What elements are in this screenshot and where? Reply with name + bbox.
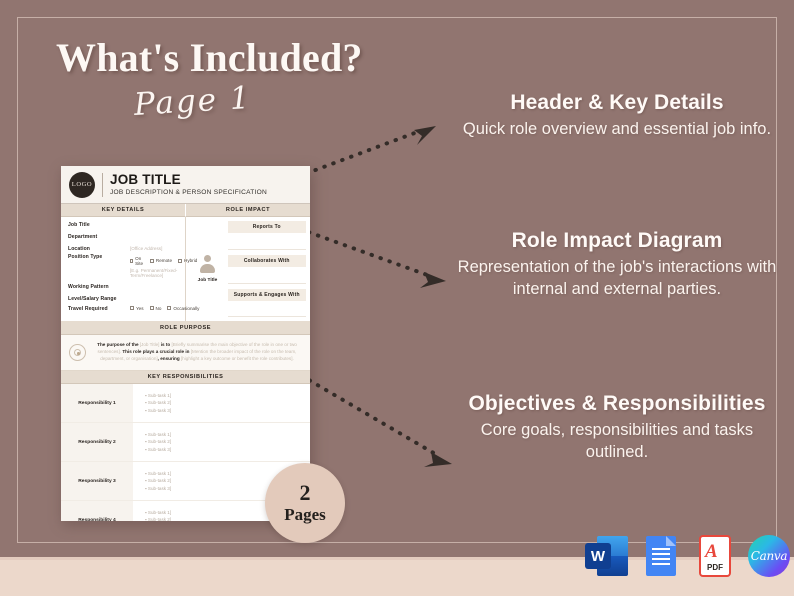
docs-line — [652, 558, 670, 560]
key-details-and-role-impact-row: Job Title Department Location [Office Ad… — [61, 217, 310, 321]
task-item: Sub-task 3] — [145, 446, 310, 454]
field-label: Location — [68, 246, 130, 252]
feature-title: Role Impact Diagram — [452, 229, 782, 253]
word-icon[interactable]: W — [585, 534, 629, 578]
chip-blank-field[interactable] — [228, 306, 307, 317]
key-details-row[interactable]: Location [Office Address] — [61, 246, 185, 252]
task-item: Sub-task 2] — [145, 438, 310, 446]
responsibility-row[interactable]: Responsibility 1 Sub-task 1] Sub-task 2]… — [61, 384, 310, 423]
rp-placeholder-4: [highlight a key outcome or benefit the … — [181, 356, 294, 361]
feature-title: Header & Key Details — [452, 91, 782, 115]
chip-blank-field[interactable] — [228, 273, 307, 284]
field-label: Working Pattern — [68, 284, 130, 290]
rp-bold-4: , ensuring — [158, 356, 181, 361]
word-letter: W — [585, 543, 611, 569]
task-item: Sub-task 3] — [145, 407, 310, 415]
section-title-role-purpose: ROLE PURPOSE — [61, 321, 310, 334]
role-impact-chips: Reports To Collaborates With Supports & … — [228, 221, 307, 317]
checkbox-icon[interactable] — [130, 306, 134, 310]
responsibility-label: Responsibility 2 — [61, 423, 133, 461]
checkbox-label: Remote — [156, 258, 172, 263]
travel-options[interactable]: Yes No Occasionally — [130, 306, 199, 311]
chip-blank-field[interactable] — [228, 239, 307, 250]
arrow-head-1 — [414, 126, 436, 145]
section-title-role-impact: ROLE IMPACT — [185, 204, 310, 217]
logo-placeholder: LOGO — [69, 172, 95, 198]
checkbox-hybrid[interactable]: Hybrid — [178, 256, 197, 266]
role-purpose-body: The purpose of the [Job Title] is to [Br… — [61, 335, 310, 371]
target-icon — [69, 344, 86, 361]
checkbox-label: Yes — [136, 306, 144, 311]
file-format-icons: W A PDF Canva — [585, 534, 791, 578]
checkbox-occasionally[interactable]: Occasionally — [167, 306, 199, 311]
rp-placeholder-1: [Job Title] — [140, 342, 160, 347]
header-divider — [102, 173, 103, 197]
responsibility-row[interactable]: Responsibility 2 Sub-task 1] Sub-task 2]… — [61, 423, 310, 462]
checkbox-label: Hybrid — [184, 258, 197, 263]
travel-required-row[interactable]: Travel Required Yes No Occasionally — [61, 306, 185, 312]
checkbox-yes[interactable]: Yes — [130, 306, 144, 311]
pdf-label: PDF — [693, 563, 737, 572]
heading-block: What's Included? Page 1 — [56, 34, 456, 123]
feature-title: Objectives & Responsibilities — [452, 392, 782, 416]
field-label: Level/Salary Range — [68, 296, 130, 302]
rp-bold-1: The purpose of the — [97, 342, 140, 347]
rp-bold-3: This role plays a crucial role in — [122, 349, 190, 354]
checkbox-on-site[interactable]: On Site — [130, 256, 144, 266]
canva-label: Canva — [747, 534, 791, 578]
checkbox-icon[interactable] — [167, 306, 171, 310]
checkbox-icon[interactable] — [178, 259, 182, 263]
google-docs-icon[interactable] — [639, 534, 683, 578]
person-label: Job Title — [198, 278, 218, 283]
field-label: Travel Required — [68, 306, 130, 312]
field-label: Position Type — [68, 254, 130, 260]
slide-canvas: What's Included? Page 1 Header & Key Det… — [0, 0, 794, 596]
pages-count-badge: 2 Pages — [265, 463, 345, 543]
responsibility-label: Responsibility 3 — [61, 462, 133, 500]
responsibility-tasks[interactable]: Sub-task 1] Sub-task 2] Sub-task 3] — [133, 431, 310, 454]
checkbox-label: Occasionally — [173, 306, 199, 311]
responsibility-tasks[interactable]: Sub-task 1] Sub-task 2] Sub-task 3] — [133, 392, 310, 415]
field-value[interactable]: [E.g. Permanent/Fixed-Term/Freelance] — [130, 268, 197, 278]
chip-collaborates-with[interactable]: Collaborates With — [228, 255, 307, 267]
checkbox-icon[interactable] — [130, 259, 133, 263]
checkbox-remote[interactable]: Remote — [150, 256, 172, 266]
canva-icon[interactable]: Canva — [747, 534, 791, 578]
key-details-panel: Job Title Department Location [Office Ad… — [61, 217, 186, 321]
pages-count-label: Pages — [284, 506, 326, 525]
checkbox-label: No — [156, 306, 162, 311]
checkbox-label: On Site — [135, 256, 144, 266]
task-item: Sub-task 2] — [145, 399, 310, 407]
section-title-key-details: KEY DETAILS — [61, 204, 185, 217]
docs-line — [652, 548, 670, 550]
person-icon — [199, 255, 216, 275]
arrow-head-3 — [424, 452, 452, 467]
feature-block-role-impact-diagram: Role Impact Diagram Representation of th… — [452, 229, 782, 301]
field-value[interactable]: [Office Address] — [130, 246, 178, 251]
role-impact-panel: Job Title Reports To Collaborates With S… — [186, 217, 311, 321]
feature-description: Quick role overview and essential job in… — [452, 119, 782, 141]
responsibility-label: Responsibility 4 — [61, 501, 133, 521]
feature-block-header-key-details: Header & Key Details Quick role overview… — [452, 91, 782, 141]
field-label: Job Title — [68, 222, 130, 228]
document-header: LOGO JOB TITLE JOB DESCRIPTION & PERSON … — [61, 166, 310, 204]
section-title-key-responsibilities: KEY RESPONSIBILITIES — [61, 371, 310, 384]
position-type-options[interactable]: On Site Remote Hybrid — [130, 256, 197, 266]
checkbox-no[interactable]: No — [150, 306, 162, 311]
checkbox-icon[interactable] — [150, 306, 154, 310]
pages-count-value: 2 — [300, 482, 311, 504]
chip-supports-engages-with[interactable]: Supports & Engages With — [228, 289, 307, 301]
feature-description: Core goals, responsibilities and tasks o… — [452, 420, 782, 464]
checkbox-icon[interactable] — [150, 259, 154, 263]
feature-description: Representation of the job's interactions… — [452, 257, 782, 301]
section-bar-row: KEY DETAILS ROLE IMPACT — [61, 204, 310, 217]
rp-bold-2: is to — [159, 342, 171, 347]
arrow-head-2 — [420, 272, 446, 288]
docs-line — [652, 563, 670, 565]
field-label: Department — [68, 234, 130, 240]
feature-block-objectives-responsibilities: Objectives & Responsibilities Core goals… — [452, 392, 782, 464]
position-type-row[interactable]: Position Type On Site Remote Hybrid [E.g… — [61, 254, 185, 278]
document-subtitle: JOB DESCRIPTION & PERSON SPECIFICATION — [110, 189, 267, 196]
pdf-acrobat-glyph: A — [705, 542, 718, 561]
responsibility-label: Responsibility 1 — [61, 384, 133, 422]
arrow-line-2 — [300, 229, 430, 276]
role-purpose-text[interactable]: The purpose of the [Job Title] is to [Br… — [92, 342, 302, 363]
docs-line — [652, 553, 670, 555]
chip-reports-to[interactable]: Reports To — [228, 221, 307, 233]
task-item: Sub-task 1] — [145, 431, 310, 439]
document-title: JOB TITLE — [110, 173, 267, 187]
task-item: Sub-task 1] — [145, 392, 310, 400]
document-preview[interactable]: LOGO JOB TITLE JOB DESCRIPTION & PERSON … — [61, 166, 310, 521]
pdf-icon[interactable]: A PDF — [693, 534, 737, 578]
